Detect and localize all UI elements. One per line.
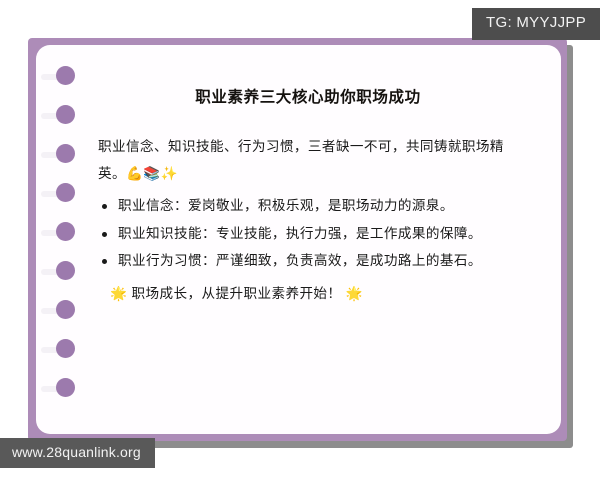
list-item-text: 职业行为习惯：严谨细致，负责高效，是成功路上的基石。 — [118, 253, 482, 268]
list-item: 职业行为习惯：严谨细致，负责高效，是成功路上的基石。 — [98, 248, 518, 275]
star-icon: 🌟 — [346, 286, 363, 302]
list-item-text: 职业知识技能：专业技能，执行力强，是工作成果的保障。 — [118, 226, 482, 241]
intro-emoji-group: 💪📚✨ — [126, 166, 178, 182]
intro-paragraph: 职业信念、知识技能、行为习惯，三者缺一不可，共同铸就职场精英。💪📚✨ — [98, 134, 518, 187]
list-item-text: 职业信念：爱岗敬业，积极乐观，是职场动力的源泉。 — [118, 198, 454, 213]
key-points-list: 职业信念：爱岗敬业，积极乐观，是职场动力的源泉。 职业知识技能：专业技能，执行力… — [98, 193, 518, 275]
notebook-card: 职业素养三大核心助你职场成功 职业信念、知识技能、行为习惯，三者缺一不可，共同铸… — [28, 38, 573, 448]
closing-text: 职场成长，从提升职业素养开始！ — [132, 286, 342, 301]
note-content: 职业素养三大核心助你职场成功 职业信念、知识技能、行为习惯，三者缺一不可，共同铸… — [98, 88, 518, 307]
star-icon: 🌟 — [110, 286, 127, 302]
page-title: 职业素养三大核心助你职场成功 — [98, 88, 518, 108]
closing-statement: 🌟 职场成长，从提升职业素养开始！ 🌟 — [98, 281, 518, 308]
list-item: 职业信念：爱岗敬业，积极乐观，是职场动力的源泉。 — [98, 193, 518, 220]
telegram-watermark-badge: TG: MYYJJPP — [472, 8, 600, 40]
site-url-watermark: www.28quanlink.org — [0, 438, 155, 468]
list-item: 职业知识技能：专业技能，执行力强，是工作成果的保障。 — [98, 221, 518, 248]
